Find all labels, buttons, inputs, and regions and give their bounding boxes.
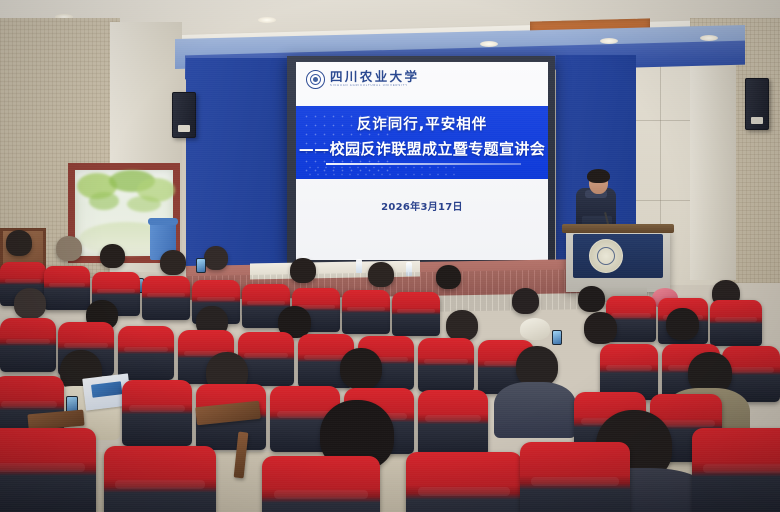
seat[interactable] [104,446,216,512]
seat[interactable] [692,428,780,512]
slide-subtitle: ——校园反诈联盟成立暨专题宣讲会 [296,138,548,159]
audience-head [6,230,32,256]
seat[interactable] [392,292,440,336]
audience-head [56,236,82,261]
auditorium-photo: 四川农业大学 SICHUAN AGRICULTURAL UNIVERSITY 反… [0,0,780,512]
seat[interactable] [520,442,630,512]
seat[interactable] [406,452,522,512]
audience-shoulders [494,382,576,438]
presentation-slide: 四川农业大学 SICHUAN AGRICULTURAL UNIVERSITY 反… [296,62,548,260]
audience-head [578,286,605,312]
wall-speaker-right [745,78,769,130]
downlight [480,41,498,47]
booklet-cover-art [91,381,122,397]
audience-head [584,312,617,344]
audience-head [340,348,382,389]
speaker-vent [178,125,190,132]
podium-desktop [562,224,674,233]
mobile-phone [552,330,562,345]
slide-dot-pattern [306,164,456,176]
downlight [700,35,718,41]
ceiling-light [258,17,276,23]
seat[interactable] [342,290,390,334]
podium-seal-icon [589,239,623,273]
seat[interactable] [0,428,96,512]
audience-head [512,288,539,314]
audience-head [14,288,46,319]
audience-head [666,308,699,340]
seat[interactable] [118,326,174,380]
foliage [127,196,161,212]
seat[interactable] [418,338,474,392]
pillar-right [690,30,736,280]
seat[interactable] [262,456,380,512]
slide-title: 反诈同行,平安相伴 [296,113,548,134]
audience-head [160,250,186,275]
seat[interactable] [0,318,56,372]
presenter-hair [587,169,610,183]
audience-head [446,310,478,341]
downlight [600,38,618,44]
foliage [89,192,119,210]
seat[interactable] [122,380,192,446]
seat[interactable] [710,300,762,346]
trash-bin-lid [148,218,178,225]
university-logo: 四川农业大学 SICHUAN AGRICULTURAL UNIVERSITY [306,70,419,89]
seat[interactable] [142,276,190,320]
audience-head [516,346,558,387]
audience-head [204,246,228,270]
slide-divider [326,163,521,165]
wall-speaker-left [172,92,196,138]
speaker-vent [751,117,763,124]
audience-head [436,265,461,289]
audience-head [368,262,394,287]
audience-cap [520,318,550,340]
mobile-phone [196,258,206,273]
audience-head [290,258,316,283]
water-bottle [356,259,362,273]
proscenium-left [186,58,298,273]
university-name-cn: 四川农业大学 [330,71,419,84]
seat[interactable] [44,266,90,310]
university-name-en: SICHUAN AGRICULTURAL UNIVERSITY [330,85,419,88]
university-seal-icon [306,70,325,89]
seat[interactable] [418,390,488,456]
audience-head [100,244,125,268]
slide-date: 2026年3月17日 [296,198,548,213]
